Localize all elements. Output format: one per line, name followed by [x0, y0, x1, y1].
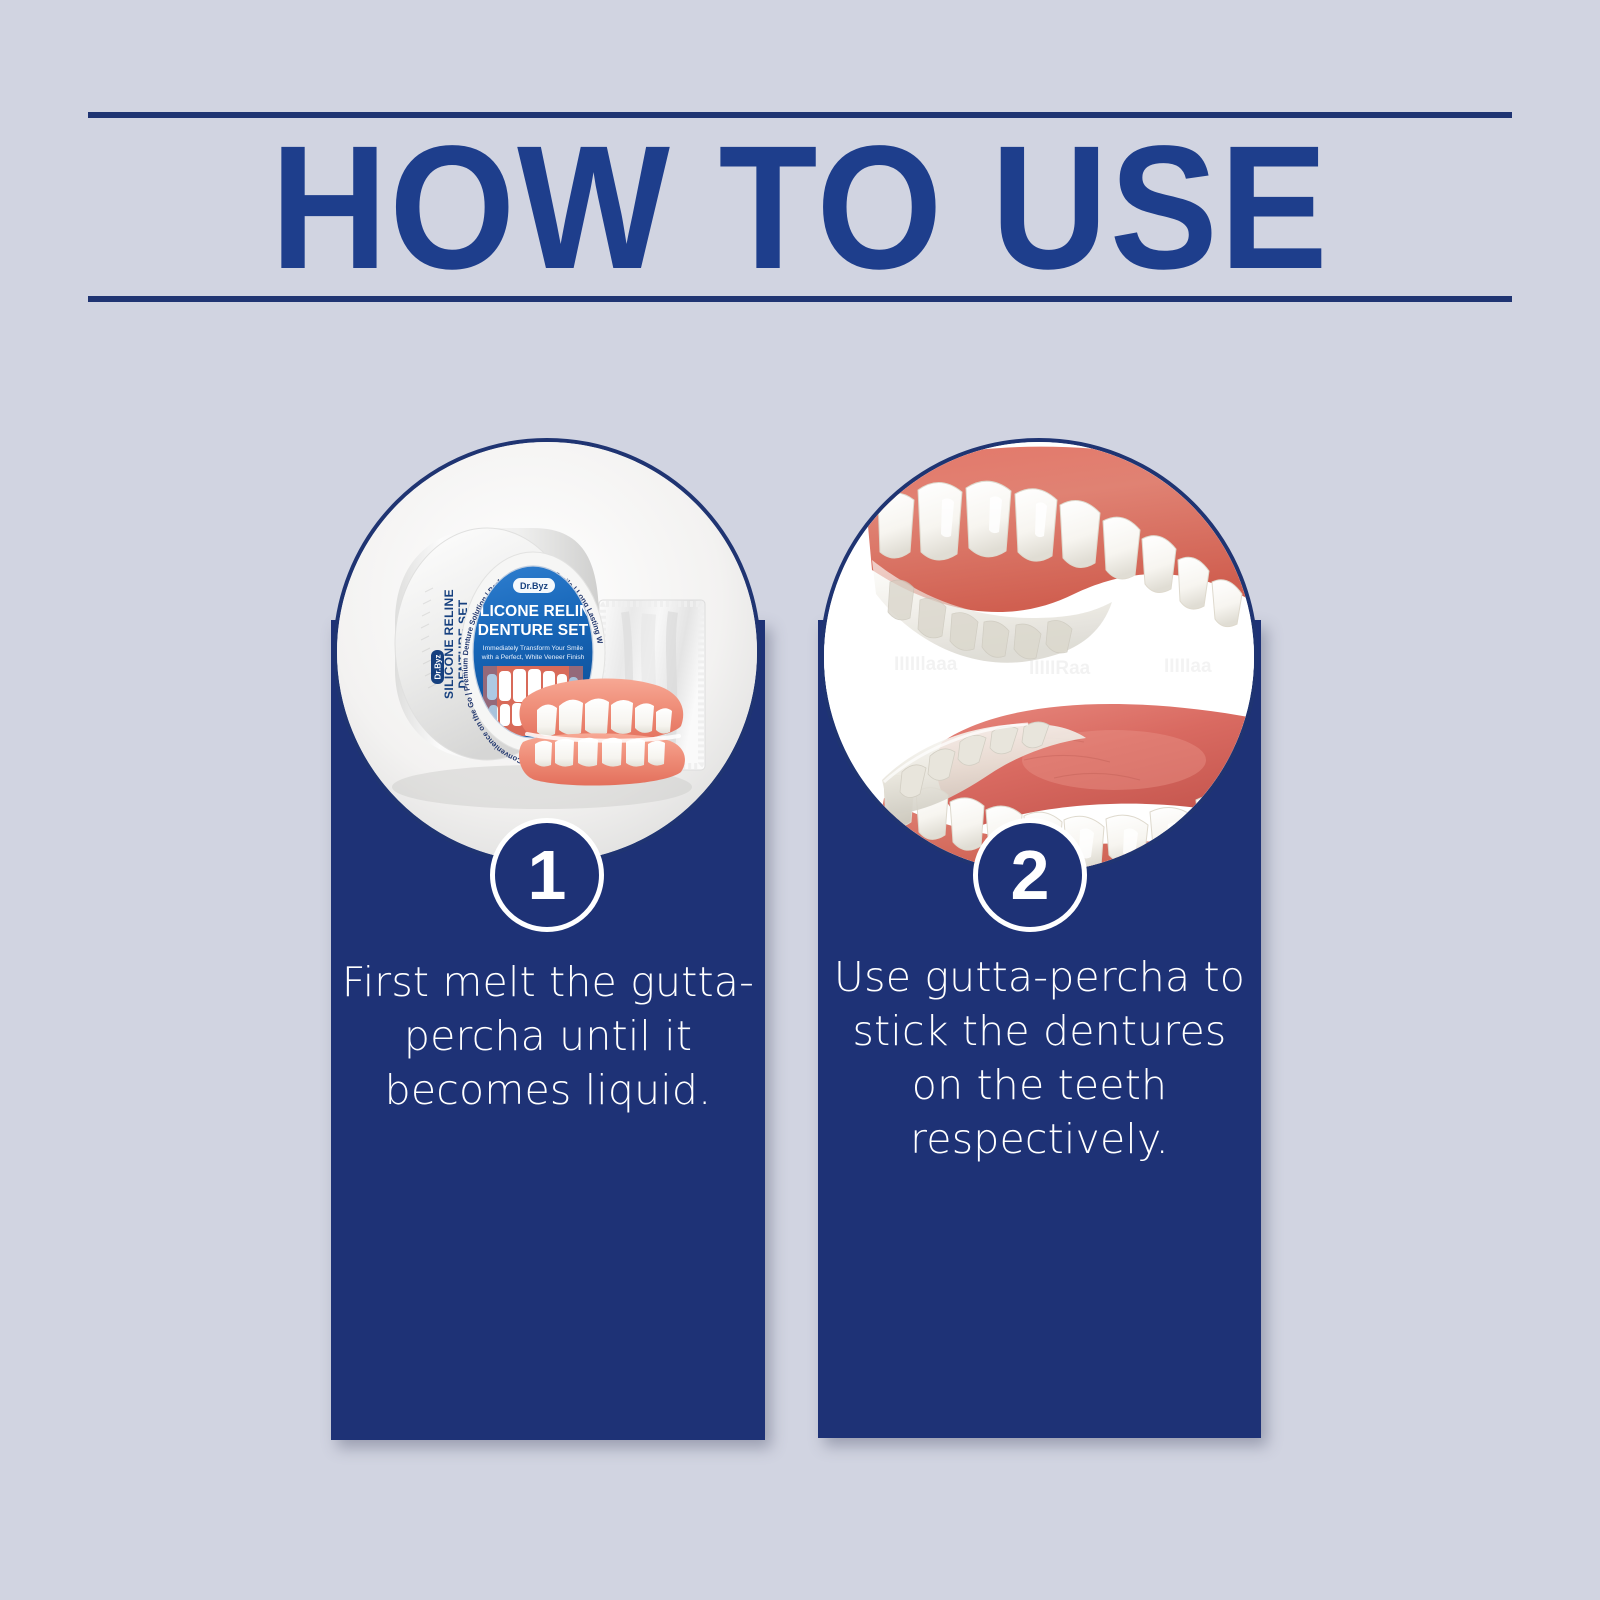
- svg-text:IIIIIRaa: IIIIIRaa: [1029, 658, 1091, 679]
- svg-text:Dr.Byz: Dr.Byz: [520, 581, 549, 591]
- step-1-caption: First melt the gutta-percha until it bec…: [331, 955, 765, 1117]
- mouth-with-veneers-illustration: IIIIIlaaa IIIIIRaa IIIIIaa: [824, 442, 1254, 872]
- step-2-caption: Use gutta-percha to stick the dentures o…: [818, 950, 1261, 1166]
- page-title: HOW TO USE: [145, 120, 1455, 296]
- svg-text:DENTURE SET: DENTURE SET: [478, 622, 589, 639]
- svg-text:IIIIIaa: IIIIIaa: [1164, 656, 1212, 677]
- svg-text:Immediately Transform Your Smi: Immediately Transform Your Smile: [483, 645, 584, 652]
- denture-kit-illustration: Dr.Byz SILICONE RELINE DENTURE SET Conve…: [337, 442, 757, 862]
- denture-veneers: [519, 678, 685, 785]
- svg-text:SILICONE RELINE: SILICONE RELINE: [442, 589, 456, 699]
- step-2-photo: IIIIIlaaa IIIIIRaa IIIIIaa: [820, 438, 1258, 876]
- svg-text:SILICONE RELINE: SILICONE RELINE: [465, 603, 601, 620]
- header-rule-bottom: [88, 296, 1512, 302]
- step-2-badge: 2: [973, 818, 1087, 932]
- svg-text:IIIIIlaaa: IIIIIlaaa: [894, 654, 958, 675]
- page-header: HOW TO USE: [88, 112, 1512, 307]
- svg-text:with a Perfect, White Veneer F: with a Perfect, White Veneer Finish: [481, 654, 585, 661]
- step-1-photo: Dr.Byz SILICONE RELINE DENTURE SET Conve…: [333, 438, 761, 866]
- step-1-badge: 1: [490, 818, 604, 932]
